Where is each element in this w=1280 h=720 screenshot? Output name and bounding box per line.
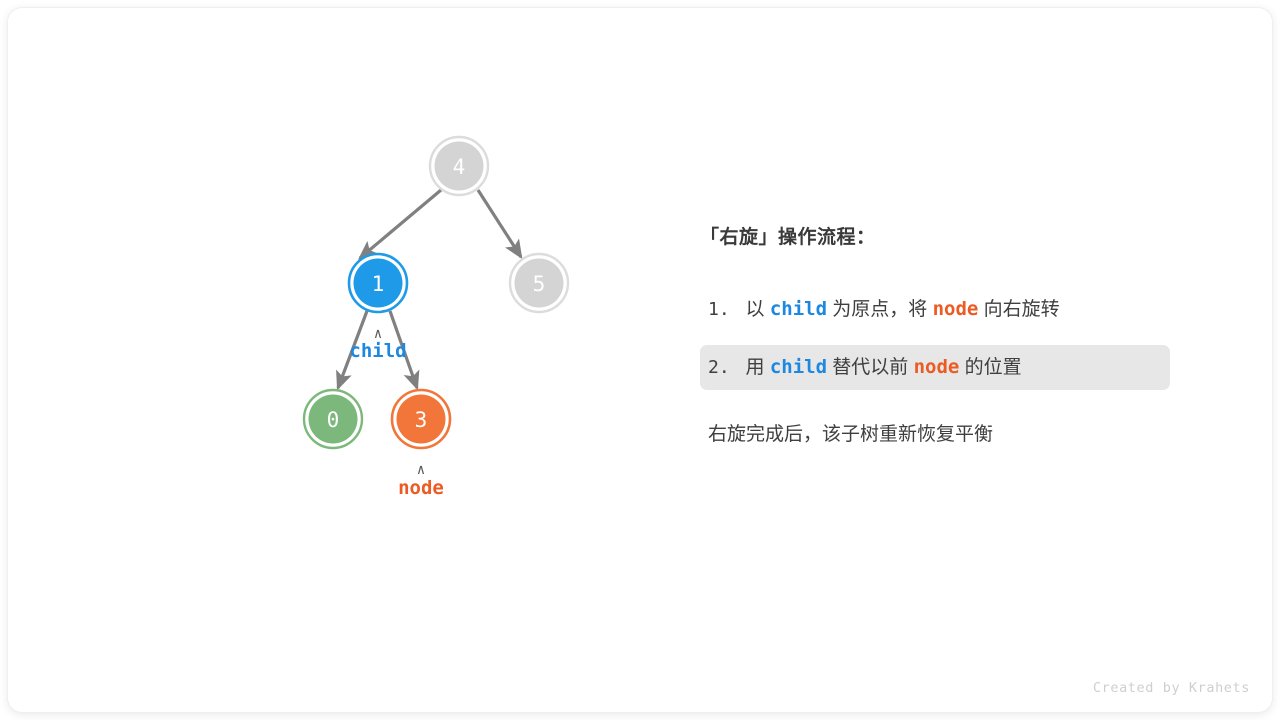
step-1-part-4: 向右旋转 xyxy=(978,299,1059,320)
step-1-part-2: 为原点，将 xyxy=(827,299,933,320)
step-2-keyword-node: node xyxy=(914,356,960,378)
step-2-part-2: 替代以前 xyxy=(827,357,914,378)
step-1-keyword-child: child xyxy=(770,298,827,320)
node-3-value: 3 xyxy=(415,408,428,432)
panel-note: 右旋完成后，该子树重新恢复平衡 xyxy=(700,419,1220,446)
tree-node-3[interactable]: 3 xyxy=(392,390,450,448)
step-2-part-4: 的位置 xyxy=(959,357,1021,378)
step-item-2: 2. 用 child 替代以前 node 的位置 xyxy=(700,345,1170,390)
step-1-number: 1. xyxy=(708,299,730,320)
child-pointer-label: child xyxy=(349,340,406,362)
node-5-value: 5 xyxy=(533,272,546,296)
step-1-part-0: 以 xyxy=(746,299,770,320)
edge-4-1 xyxy=(360,190,441,258)
step-2-number: 2. xyxy=(708,357,730,378)
explanation-panel: 「右旋」操作流程： 1. 以 child 为原点，将 node 向右旋转 2. … xyxy=(700,222,1220,446)
tree-node-5[interactable]: 5 xyxy=(510,254,568,312)
tree-node-1[interactable]: 1 xyxy=(349,254,407,312)
node-4-value: 4 xyxy=(453,155,466,179)
node-0-value: 0 xyxy=(327,408,340,432)
panel-title: 「右旋」操作流程： xyxy=(700,222,1220,249)
step-1-space xyxy=(735,299,740,320)
node-caret-icon: ∧ xyxy=(417,462,425,478)
tree-node-0[interactable]: 0 xyxy=(304,390,362,448)
step-2-part-0: 用 xyxy=(746,357,770,378)
pointer-node: ∧ node xyxy=(398,462,444,499)
credit-text: Created by Krahets xyxy=(1093,680,1250,696)
node-1-value: 1 xyxy=(372,272,385,296)
edge-4-5 xyxy=(478,190,521,257)
diagram-card: 4 1 5 0 3 ∧ child xyxy=(8,8,1272,712)
node-pointer-label: node xyxy=(398,477,444,499)
step-1-keyword-node: node xyxy=(933,298,979,320)
tree-node-4[interactable]: 4 xyxy=(430,137,488,195)
step-2-space xyxy=(735,357,740,378)
step-2-keyword-child: child xyxy=(770,356,827,378)
step-item-1: 1. 以 child 为原点，将 node 向右旋转 xyxy=(700,287,1170,332)
